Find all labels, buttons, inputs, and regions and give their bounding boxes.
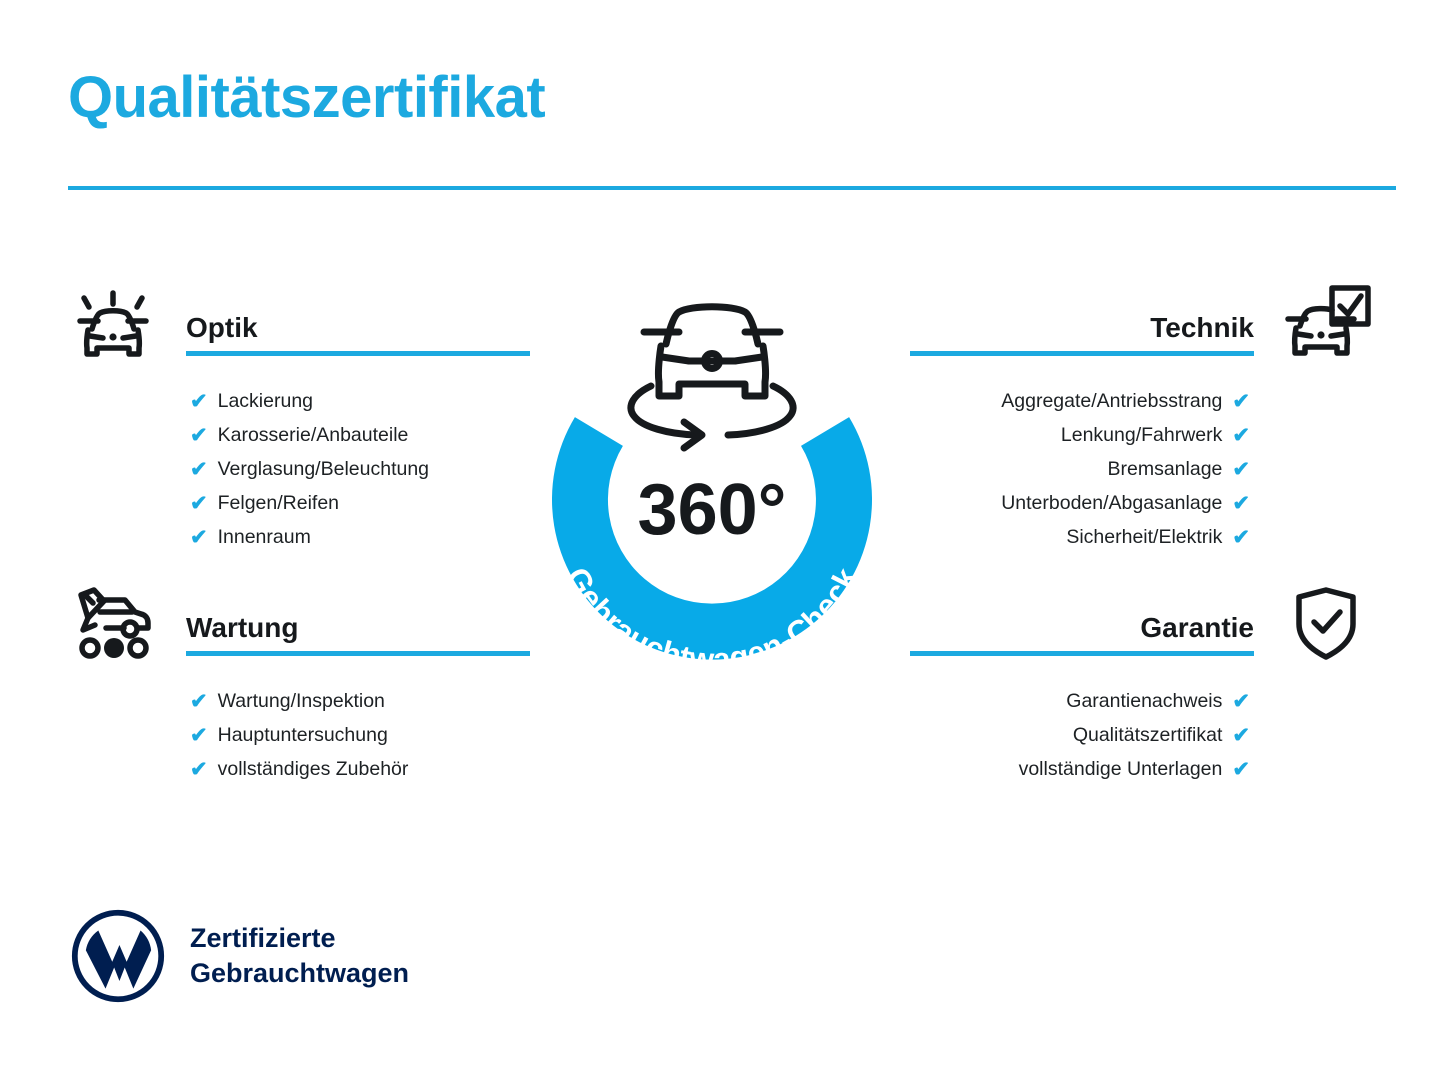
list-item-label: Verglasung/Beleuchtung bbox=[218, 452, 429, 486]
car-checkbox-icon bbox=[1280, 284, 1372, 362]
list-item-label: Unterboden/Abgasanlage bbox=[1001, 486, 1222, 520]
list-item: Aggregate/Antriebsstrang✔ bbox=[902, 384, 1372, 418]
check-icon: ✔ bbox=[190, 725, 208, 746]
section-technik: Technik Aggregate/Antriebsstrang✔ Lenkun… bbox=[902, 288, 1372, 554]
check-icon: ✔ bbox=[1232, 527, 1250, 548]
certificate-page: Qualitätszertifikat bbox=[0, 0, 1440, 1080]
list-item-label: Lenkung/Fahrwerk bbox=[1061, 418, 1223, 452]
check-icon: ✔ bbox=[190, 459, 208, 480]
page-title: Qualitätszertifikat bbox=[68, 68, 545, 129]
list-item: ✔vollständiges Zubehör bbox=[68, 752, 538, 786]
check-icon: ✔ bbox=[1232, 725, 1250, 746]
check-icon: ✔ bbox=[1232, 691, 1250, 712]
list-item-label: Sicherheit/Elektrik bbox=[1066, 520, 1222, 554]
header-divider bbox=[68, 186, 1396, 190]
footer-line-1: Zertifizierte bbox=[190, 923, 336, 953]
list-item: ✔Hauptuntersuchung bbox=[68, 718, 538, 752]
section-title-technik: Technik bbox=[1150, 312, 1254, 344]
list-item-label: Innenraum bbox=[218, 520, 311, 554]
list-item: Lenkung/Fahrwerk✔ bbox=[902, 418, 1372, 452]
list-item: ✔Felgen/Reifen bbox=[68, 486, 538, 520]
list-item: Garantienachweis✔ bbox=[902, 684, 1372, 718]
list-item-label: vollständiges Zubehör bbox=[218, 752, 409, 786]
check-icon: ✔ bbox=[1232, 459, 1250, 480]
list-item: Sicherheit/Elektrik✔ bbox=[902, 520, 1372, 554]
car-pencil-service-icon bbox=[68, 584, 160, 662]
checklist-technik: Aggregate/Antriebsstrang✔ Lenkung/Fahrwe… bbox=[902, 384, 1372, 554]
list-item: ✔Innenraum bbox=[68, 520, 538, 554]
list-item-label: Bremsanlage bbox=[1107, 452, 1222, 486]
section-garantie: Garantie Garantienachweis✔ Qualitätszert… bbox=[902, 588, 1372, 786]
section-header: Wartung bbox=[68, 588, 538, 666]
list-item-label: Qualitätszertifikat bbox=[1073, 718, 1223, 752]
list-item-label: vollständige Unterlagen bbox=[1019, 752, 1223, 786]
list-item: vollständige Unterlagen✔ bbox=[902, 752, 1372, 786]
section-title-garantie: Garantie bbox=[1140, 612, 1254, 644]
badge-360-check: Gebrauchtwagen-Check 360° bbox=[516, 282, 908, 692]
badge-center-label: 360° bbox=[638, 470, 787, 550]
list-item-label: Karosserie/Anbauteile bbox=[218, 418, 409, 452]
list-item-label: Hauptuntersuchung bbox=[218, 718, 388, 752]
section-header: Garantie bbox=[902, 588, 1372, 666]
list-item-label: Lackierung bbox=[218, 384, 313, 418]
footer-brand-text: Zertifizierte Gebrauchtwagen bbox=[190, 921, 409, 991]
column-right: Technik Aggregate/Antriebsstrang✔ Lenkun… bbox=[902, 288, 1372, 786]
list-item-label: Aggregate/Antriebsstrang bbox=[1001, 384, 1222, 418]
check-icon: ✔ bbox=[190, 493, 208, 514]
list-item: ✔Wartung/Inspektion bbox=[68, 684, 538, 718]
section-header: Optik bbox=[68, 288, 538, 366]
check-icon: ✔ bbox=[1232, 425, 1250, 446]
footer-line-2: Gebrauchtwagen bbox=[190, 958, 409, 988]
list-item: Unterboden/Abgasanlage✔ bbox=[902, 486, 1372, 520]
list-item: Bremsanlage✔ bbox=[902, 452, 1372, 486]
check-icon: ✔ bbox=[1232, 759, 1250, 780]
column-left: Optik ✔Lackierung ✔Karosserie/Anbauteile… bbox=[68, 288, 538, 786]
check-icon: ✔ bbox=[1232, 493, 1250, 514]
check-icon: ✔ bbox=[1232, 391, 1250, 412]
checklist-optik: ✔Lackierung ✔Karosserie/Anbauteile ✔Verg… bbox=[68, 384, 538, 554]
list-item: ✔Lackierung bbox=[68, 384, 538, 418]
list-item-label: Garantienachweis bbox=[1066, 684, 1222, 718]
check-icon: ✔ bbox=[190, 425, 208, 446]
section-title-optik: Optik bbox=[186, 312, 258, 344]
footer-brand: Zertifizierte Gebrauchtwagen bbox=[70, 908, 409, 1004]
check-icon: ✔ bbox=[190, 691, 208, 712]
check-icon: ✔ bbox=[190, 527, 208, 548]
section-title-wartung: Wartung bbox=[186, 612, 299, 644]
car-front-rotate-icon bbox=[631, 307, 793, 448]
checklist-wartung: ✔Wartung/Inspektion ✔Hauptuntersuchung ✔… bbox=[68, 684, 538, 786]
volkswagen-logo bbox=[70, 908, 166, 1004]
check-icon: ✔ bbox=[190, 391, 208, 412]
list-item-label: Felgen/Reifen bbox=[218, 486, 339, 520]
section-divider bbox=[186, 651, 530, 656]
section-wartung: Wartung ✔Wartung/Inspektion ✔Hauptunters… bbox=[68, 588, 538, 786]
list-item: ✔Karosserie/Anbauteile bbox=[68, 418, 538, 452]
car-front-shine-icon bbox=[68, 284, 160, 362]
list-item: ✔Verglasung/Beleuchtung bbox=[68, 452, 538, 486]
check-icon: ✔ bbox=[190, 759, 208, 780]
list-item: Qualitätszertifikat✔ bbox=[902, 718, 1372, 752]
section-divider bbox=[910, 651, 1254, 656]
list-item-label: Wartung/Inspektion bbox=[218, 684, 385, 718]
section-divider bbox=[186, 351, 530, 356]
checklist-garantie: Garantienachweis✔ Qualitätszertifikat✔ v… bbox=[902, 684, 1372, 786]
section-header: Technik bbox=[902, 288, 1372, 366]
section-divider bbox=[910, 351, 1254, 356]
shield-check-icon bbox=[1280, 584, 1372, 662]
section-optik: Optik ✔Lackierung ✔Karosserie/Anbauteile… bbox=[68, 288, 538, 554]
